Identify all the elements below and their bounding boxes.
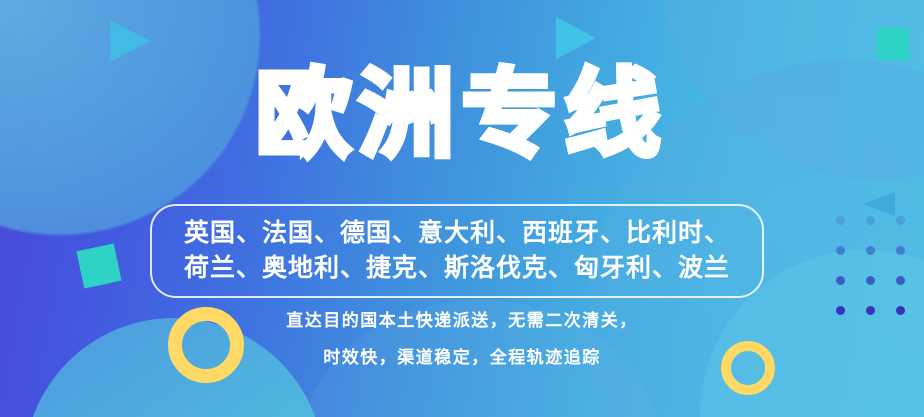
country-list-box: 英国、法国、德国、意大利、西班牙、比利时、 荷兰、奥地利、捷克、斯洛伐克、匈牙利…: [150, 204, 764, 298]
tagline: 直达目的国本土快递派送，无需二次清关， 时效快，渠道稳定，全程轨迹追踪: [0, 303, 924, 377]
tagline-line-1: 直达目的国本土快递派送，无需二次清关，: [0, 303, 924, 340]
tagline-line-2: 时效快，渠道稳定，全程轨迹追踪: [0, 340, 924, 377]
banner-content: 欧洲专线 英国、法国、德国、意大利、西班牙、比利时、 荷兰、奥地利、捷克、斯洛伐…: [0, 0, 924, 417]
promo-banner: 欧洲专线 英国、法国、德国、意大利、西班牙、比利时、 荷兰、奥地利、捷克、斯洛伐…: [0, 0, 924, 417]
country-list-line-1: 英国、法国、德国、意大利、西班牙、比利时、: [166, 215, 748, 250]
country-list-line-2: 荷兰、奥地利、捷克、斯洛伐克、匈牙利、波兰: [166, 250, 748, 285]
page-title: 欧洲专线: [0, 68, 924, 163]
